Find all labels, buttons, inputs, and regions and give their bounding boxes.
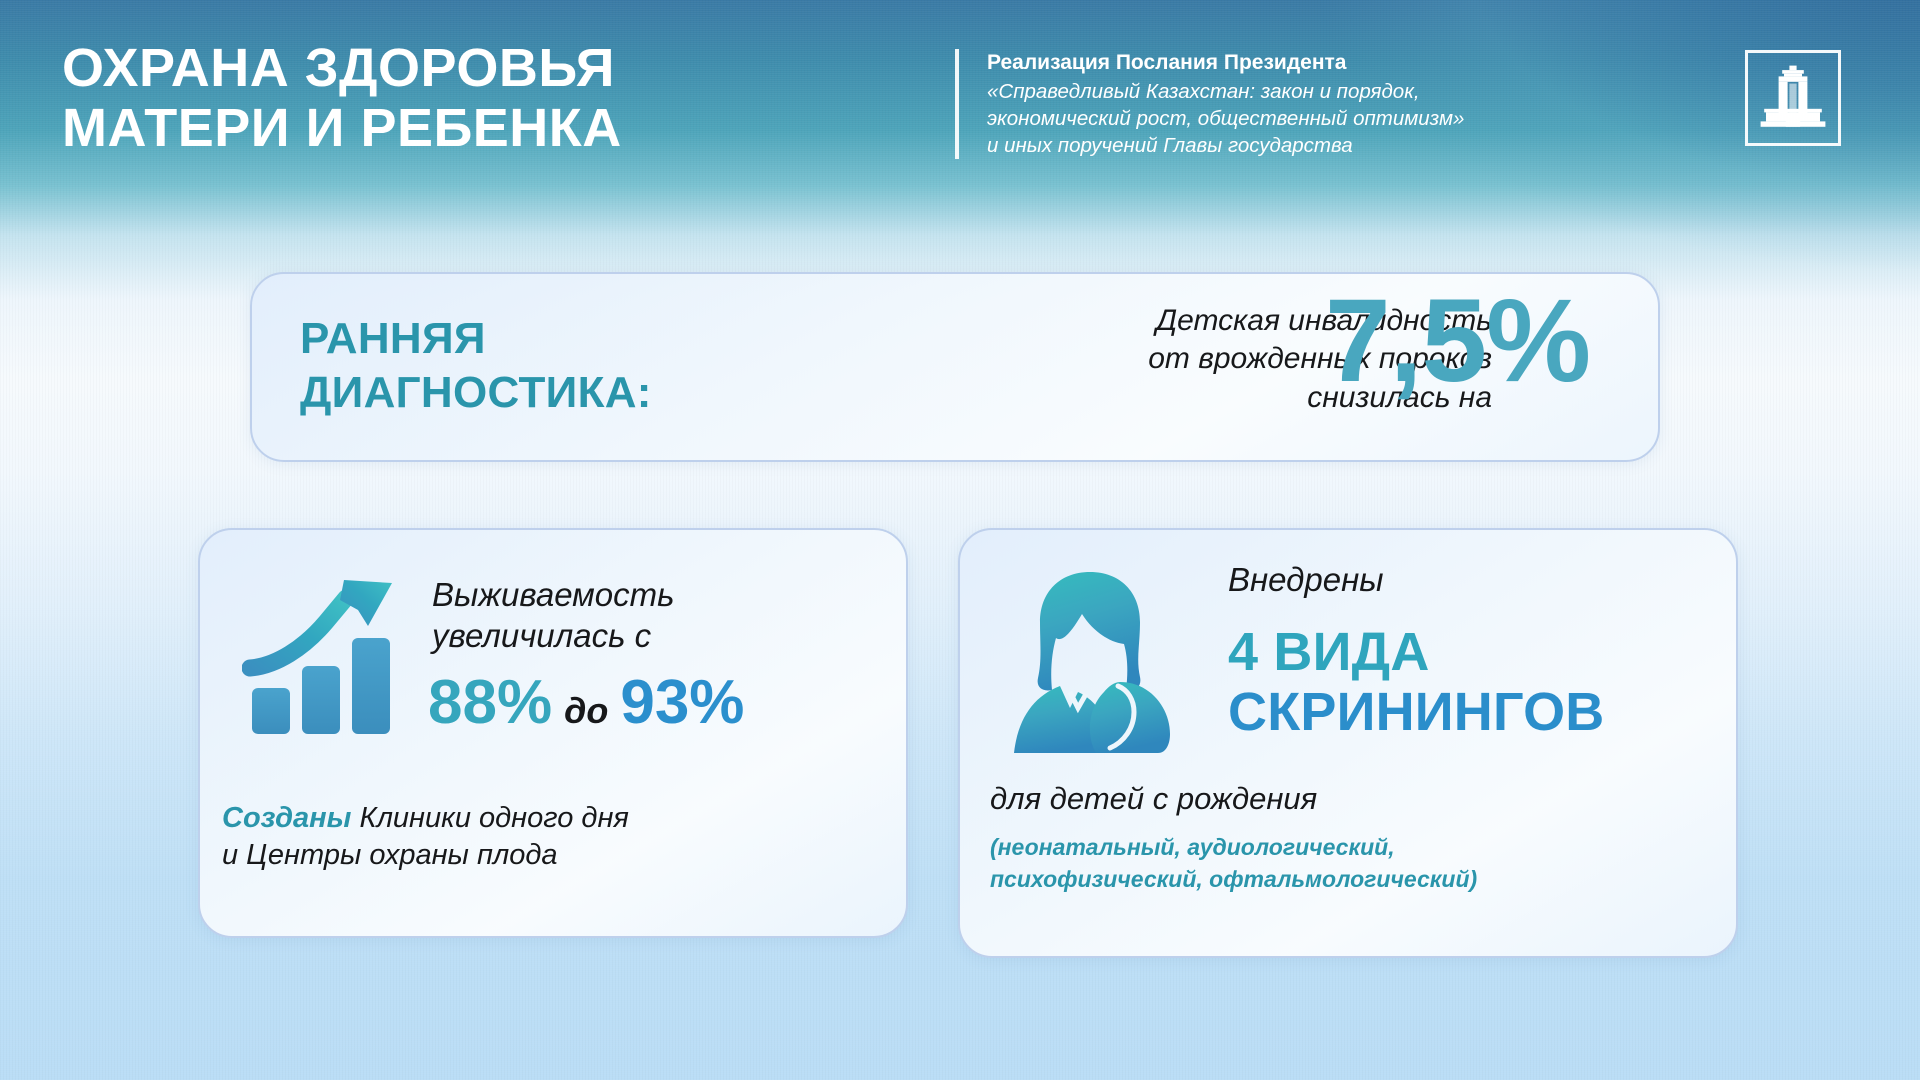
survival-value-connector: до xyxy=(552,690,620,731)
early-diagnostics-title-line-1: РАННЯЯ xyxy=(300,312,652,366)
survival-value-from: 88% xyxy=(428,668,552,737)
survival-footer-text: Созданы Клиники одного дня и Центры охра… xyxy=(222,800,892,874)
header-subtitle-block: Реализация Послания Президента «Справедл… xyxy=(955,49,1464,159)
page-title: ОХРАНА ЗДОРОВЬЯ МАТЕРИ И РЕБЕНКА xyxy=(62,38,622,159)
early-diagnostics-card: РАННЯЯ ДИАГНОСТИКА: Детская инвалидность… xyxy=(250,272,1660,462)
survival-rate-card: Выживаемость увеличилась с 88%до93% Созд… xyxy=(198,528,908,938)
screenings-footer-detail: (неонатальный, аудиологический, психофиз… xyxy=(990,832,1710,895)
screenings-footer-detail-line-2: психофизический, офтальмологический) xyxy=(990,864,1710,896)
subtitle-heading: Реализация Послания Президента xyxy=(987,49,1464,76)
subtitle-quote-line-1: «Справедливый Казахстан: закон и порядок… xyxy=(987,78,1464,105)
government-building-emblem-icon xyxy=(1745,50,1841,146)
subtitle-quote: «Справедливый Казахстан: закон и порядок… xyxy=(987,78,1464,159)
growth-bar-chart-icon xyxy=(242,570,402,740)
mother-and-child-icon xyxy=(1000,558,1180,753)
survival-lead-line-2: увеличилась с xyxy=(432,615,675,656)
survival-footer-highlight: Созданы xyxy=(222,802,351,834)
subtitle-quote-line-2: экономический рост, общественный оптимиз… xyxy=(987,105,1464,132)
survival-lead-text: Выживаемость увеличилась с xyxy=(432,574,675,657)
page-title-line-2: МАТЕРИ И РЕБЕНКА xyxy=(62,98,622,158)
survival-lead-line-1: Выживаемость xyxy=(432,574,675,615)
screenings-footer-detail-line-1: (неонатальный, аудиологический, xyxy=(990,832,1710,864)
early-diagnostics-title-line-2: ДИАГНОСТИКА: xyxy=(300,366,652,420)
screenings-headline-line-1: 4 ВИДА xyxy=(1228,622,1718,682)
early-diagnostics-title: РАННЯЯ ДИАГНОСТИКА: xyxy=(300,312,652,419)
child-disability-reduction-value: 7,5% xyxy=(1325,282,1590,400)
survival-footer-line-2: и Центры охраны плода xyxy=(222,837,892,874)
screenings-headline: 4 ВИДА СКРИНИНГОВ xyxy=(1228,622,1718,743)
screenings-footer-main: для детей с рождения xyxy=(990,780,1317,819)
screenings-card: Внедрены 4 ВИДА СКРИНИНГОВ для детей с р… xyxy=(958,528,1738,958)
screenings-headline-line-2: СКРИНИНГОВ xyxy=(1228,682,1718,742)
survival-value-to: 93% xyxy=(620,668,744,737)
page-title-line-1: ОХРАНА ЗДОРОВЬЯ xyxy=(62,38,622,98)
survival-footer-line-1: Созданы Клиники одного дня xyxy=(222,800,892,837)
header: ОХРАНА ЗДОРОВЬЯ МАТЕРИ И РЕБЕНКА Реализа… xyxy=(0,0,1920,215)
screenings-lead-text: Внедрены xyxy=(1228,560,1384,600)
survival-footer-line-1-rest: Клиники одного дня xyxy=(351,802,628,834)
survival-values: 88%до93% xyxy=(428,672,744,734)
subtitle-quote-line-3: и иных поручений Главы государства xyxy=(987,132,1464,159)
